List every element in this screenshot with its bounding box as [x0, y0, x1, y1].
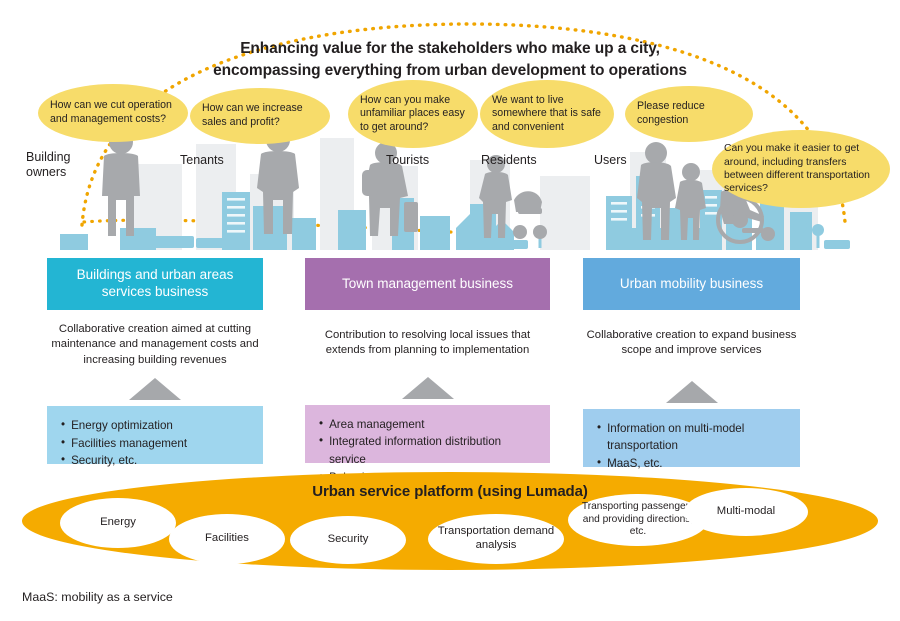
business-column-town-management: Town management business Contribution to…	[305, 258, 550, 463]
bullet-icon: •	[319, 416, 323, 433]
footnote-maas: MaaS: mobility as a service	[22, 590, 173, 604]
speech-bubble-text: Can you make it easier to get around, in…	[712, 142, 890, 195]
column-header-town-management: Town management business	[305, 258, 550, 310]
stakeholder-label-residents: Residents	[481, 153, 537, 168]
bullet-icon: •	[597, 420, 601, 437]
column-description-buildings: Collaborative creation aimed at cutting …	[47, 322, 263, 368]
list-item-label: Area management	[329, 416, 540, 434]
column-items-buildings: • Energy optimization • Facilities manag…	[47, 406, 263, 464]
list-item-label: Information on multi-model transportatio…	[607, 420, 790, 455]
column-header-urban-mobility: Urban mobility business	[583, 258, 800, 310]
platform-pill-security: Security	[290, 516, 406, 564]
bullet-icon: •	[319, 433, 323, 450]
stakeholders-section: Enhancing value for the stakeholders who…	[0, 0, 900, 250]
page-title: Enhancing value for the stakeholders who…	[150, 38, 750, 82]
bullet-icon: •	[61, 452, 65, 469]
stakeholder-label-tourists: Tourists	[386, 153, 429, 168]
diagram-canvas: Enhancing value for the stakeholders who…	[0, 0, 900, 621]
platform-pill-transportation-demand: Transportation demand analysis	[428, 514, 564, 564]
list-item-label: Energy optimization	[71, 417, 253, 435]
list-item-label: Facilities management	[71, 435, 253, 453]
speech-bubble-text: How can we cut operation and management …	[38, 99, 188, 126]
up-arrow-icon	[402, 377, 454, 399]
list-item-label: Integrated information distribution serv…	[329, 433, 540, 468]
urban-service-platform: Urban service platform (using Lumada) En…	[22, 472, 878, 570]
speech-bubble-residents: We want to live somewhere that is safe a…	[480, 80, 614, 148]
list-item: • Integrated information distribution se…	[319, 433, 540, 468]
list-item-label: Security, etc.	[71, 452, 253, 470]
platform-pill-facilities: Facilities	[169, 514, 285, 564]
speech-bubble-text: We want to live somewhere that is safe a…	[480, 94, 614, 135]
stakeholder-label-users: Users	[594, 153, 627, 168]
column-items-urban-mobility: • Information on multi-model transportat…	[583, 409, 800, 467]
silhouette-building-owner	[90, 128, 152, 238]
bullet-icon: •	[61, 435, 65, 452]
list-item-label: MaaS, etc.	[607, 455, 790, 473]
bullet-icon: •	[61, 417, 65, 434]
column-description-town-management: Contribution to resolving local issues t…	[305, 328, 550, 359]
platform-pill-energy: Energy	[60, 498, 176, 548]
column-header-buildings: Buildings and urban areas services busin…	[47, 258, 263, 310]
list-item: • MaaS, etc.	[597, 455, 790, 473]
up-arrow-icon	[129, 378, 181, 400]
business-column-urban-mobility: Urban mobility business Collaborative cr…	[583, 258, 800, 467]
speech-bubble-tenants: How can we increase sales and profit?	[190, 88, 330, 144]
speech-bubble-text: How can we increase sales and profit?	[190, 102, 330, 129]
up-arrow-icon	[666, 381, 718, 403]
speech-bubble-mobility: Can you make it easier to get around, in…	[712, 130, 890, 208]
list-item: • Area management	[319, 416, 540, 434]
list-item: • Energy optimization	[61, 417, 253, 435]
headline-line-2: encompassing everything from urban devel…	[150, 60, 750, 82]
stakeholder-label-building-owners: Building owners	[26, 150, 70, 180]
business-column-buildings: Buildings and urban areas services busin…	[47, 258, 263, 464]
speech-bubble-tourists: How can you make unfamiliar places easy …	[348, 80, 478, 148]
platform-pill-multi-modal: Multi-modal	[684, 488, 808, 536]
speech-bubble-text: Please reduce congestion	[625, 100, 753, 127]
column-items-town-management: • Area management • Integrated informati…	[305, 405, 550, 463]
list-item: • Information on multi-model transportat…	[597, 420, 790, 455]
list-item: • Facilities management	[61, 435, 253, 453]
speech-bubble-users: Please reduce congestion	[625, 86, 753, 142]
list-item: • Security, etc.	[61, 452, 253, 470]
stakeholder-label-tenants: Tenants	[180, 153, 224, 168]
bullet-icon: •	[597, 455, 601, 472]
column-description-urban-mobility: Collaborative creation to expand busines…	[583, 328, 800, 359]
speech-bubble-building-owners: How can we cut operation and management …	[38, 84, 188, 142]
speech-bubble-text: How can you make unfamiliar places easy …	[348, 94, 478, 135]
headline-line-1: Enhancing value for the stakeholders who…	[150, 38, 750, 60]
